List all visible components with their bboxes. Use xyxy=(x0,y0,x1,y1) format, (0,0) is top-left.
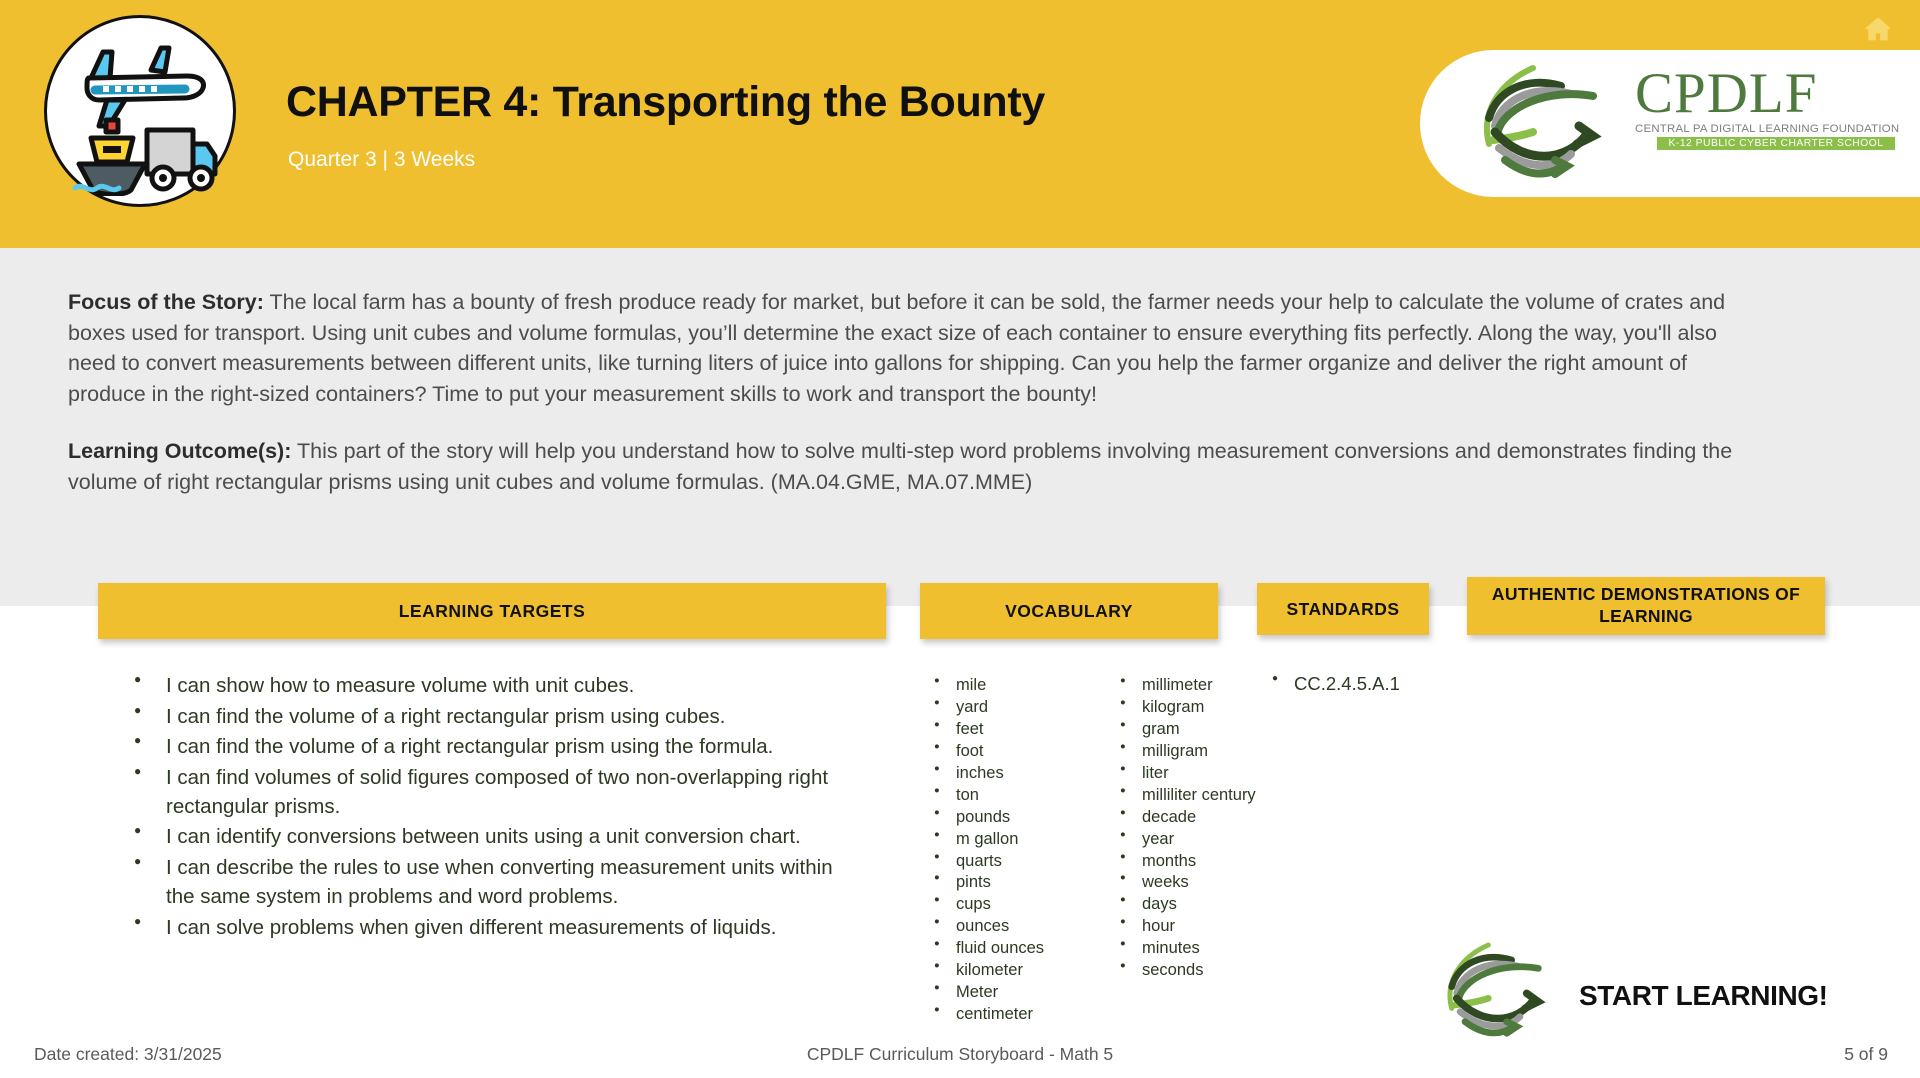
focus-label: Focus of the Story: xyxy=(68,290,264,314)
outcome-label: Learning Outcome(s): xyxy=(68,439,291,463)
vocabulary-item: pints xyxy=(930,872,1078,894)
cpdlf-logo: CPDLF CENTRAL PA DIGITAL LEARNING FOUNDA… xyxy=(1420,50,1920,197)
vocabulary-item: days xyxy=(1116,894,1264,916)
chapter-subtitle: Quarter 3 | 3 Weeks xyxy=(288,148,475,172)
start-learning-button[interactable]: START LEARNING! xyxy=(1440,940,1828,1045)
vocabulary-item: gram xyxy=(1116,719,1264,741)
transport-icon xyxy=(44,15,236,207)
learning-target-item: I can find the volume of a right rectang… xyxy=(128,733,848,762)
story-band: Focus of the Story: The local farm has a… xyxy=(0,248,1920,606)
learning-target-item: I can describe the rules to use when con… xyxy=(128,854,848,911)
standard-item: CC.2.4.5.A.1 xyxy=(1268,673,1400,695)
vocabulary-item: fluid ounces xyxy=(930,938,1078,960)
tab-authentic-demonstrations[interactable]: AUTHENTIC DEMONSTRATIONS OF LEARNING xyxy=(1467,577,1825,635)
tab-learning-targets[interactable]: LEARNING TARGETS xyxy=(98,583,886,639)
vocabulary-item: hour xyxy=(1116,916,1264,938)
vocabulary-item: minutes xyxy=(1116,938,1264,960)
vocabulary-column-2: millimeterkilogramgrammilligramlitermill… xyxy=(1116,675,1264,1026)
vocabulary-item: cups xyxy=(930,894,1078,916)
vocabulary-item: centimeter xyxy=(930,1004,1078,1026)
vocabulary-item: months xyxy=(1116,851,1264,873)
learning-target-item: I can find volumes of solid figures comp… xyxy=(128,764,848,821)
learning-target-item: I can identify conversions between units… xyxy=(128,823,848,852)
outcome-body: This part of the story will help you und… xyxy=(68,439,1732,494)
vocabulary-item: inches xyxy=(930,763,1078,785)
vocabulary-item: yard xyxy=(930,697,1078,719)
vocabulary-item: year xyxy=(1116,829,1264,851)
vocabulary-item: ounces xyxy=(930,916,1078,938)
vocabulary-item: seconds xyxy=(1116,960,1264,982)
vocabulary-item: m gallon xyxy=(930,829,1078,851)
vocabulary-column-1: mileyardfeetfootinchestonpoundsm gallonq… xyxy=(930,675,1078,1026)
vocabulary-item: pounds xyxy=(930,807,1078,829)
vocabulary-item: liter xyxy=(1116,763,1264,785)
learning-targets-list: I can show how to measure volume with un… xyxy=(128,672,848,944)
footer-page-number: 5 of 9 xyxy=(1844,1044,1888,1065)
vocabulary-item: weeks xyxy=(1116,872,1264,894)
vocabulary-item: mile xyxy=(930,675,1078,697)
logo-tagline: CENTRAL PA DIGITAL LEARNING FOUNDATION xyxy=(1635,123,1915,135)
learning-target-item: I can show how to measure volume with un… xyxy=(128,672,848,701)
page-title: CHAPTER 4: Transporting the Bounty xyxy=(286,78,1045,127)
vocabulary-item: decade xyxy=(1116,807,1264,829)
focus-body: The local farm has a bounty of fresh pro… xyxy=(68,290,1725,406)
vocabulary-item: millimeter xyxy=(1116,675,1264,697)
vocabulary-item: quarts xyxy=(930,851,1078,873)
logo-subtagline: K-12 PUBLIC CYBER CHARTER SCHOOL xyxy=(1657,137,1895,150)
vocabulary-item: kilogram xyxy=(1116,697,1264,719)
standards-list: CC.2.4.5.A.1 xyxy=(1268,673,1400,695)
vocabulary-item: feet xyxy=(930,719,1078,741)
vocabulary-lists: mileyardfeetfootinchestonpoundsm gallonq… xyxy=(930,675,1264,1026)
learning-target-item: I can find the volume of a right rectang… xyxy=(128,703,848,732)
vocabulary-item: milliliter century xyxy=(1116,785,1264,807)
vocabulary-item: milligram xyxy=(1116,741,1264,763)
vocabulary-item: Meter xyxy=(930,982,1078,1004)
vocabulary-item: foot xyxy=(930,741,1078,763)
swoosh-icon xyxy=(1475,62,1625,187)
tab-vocabulary[interactable]: VOCABULARY xyxy=(920,583,1218,639)
story-text: Focus of the Story: The local farm has a… xyxy=(68,287,1768,497)
learning-target-item: I can solve problems when given differen… xyxy=(128,914,848,943)
page-header: CHAPTER 4: Transporting the Bounty Quart… xyxy=(0,0,1920,248)
swoosh-icon-small xyxy=(1440,940,1565,1045)
start-learning-label: START LEARNING! xyxy=(1579,980,1828,1012)
vocabulary-item: ton xyxy=(930,785,1078,807)
vocabulary-item: kilometer xyxy=(930,960,1078,982)
home-icon[interactable] xyxy=(1858,10,1898,48)
logo-acronym: CPDLF xyxy=(1635,66,1915,122)
storyboard-page: CHAPTER 4: Transporting the Bounty Quart… xyxy=(0,0,1920,1078)
footer-title: CPDLF Curriculum Storyboard - Math 5 xyxy=(0,1044,1920,1065)
tab-standards[interactable]: STANDARDS xyxy=(1257,583,1429,635)
